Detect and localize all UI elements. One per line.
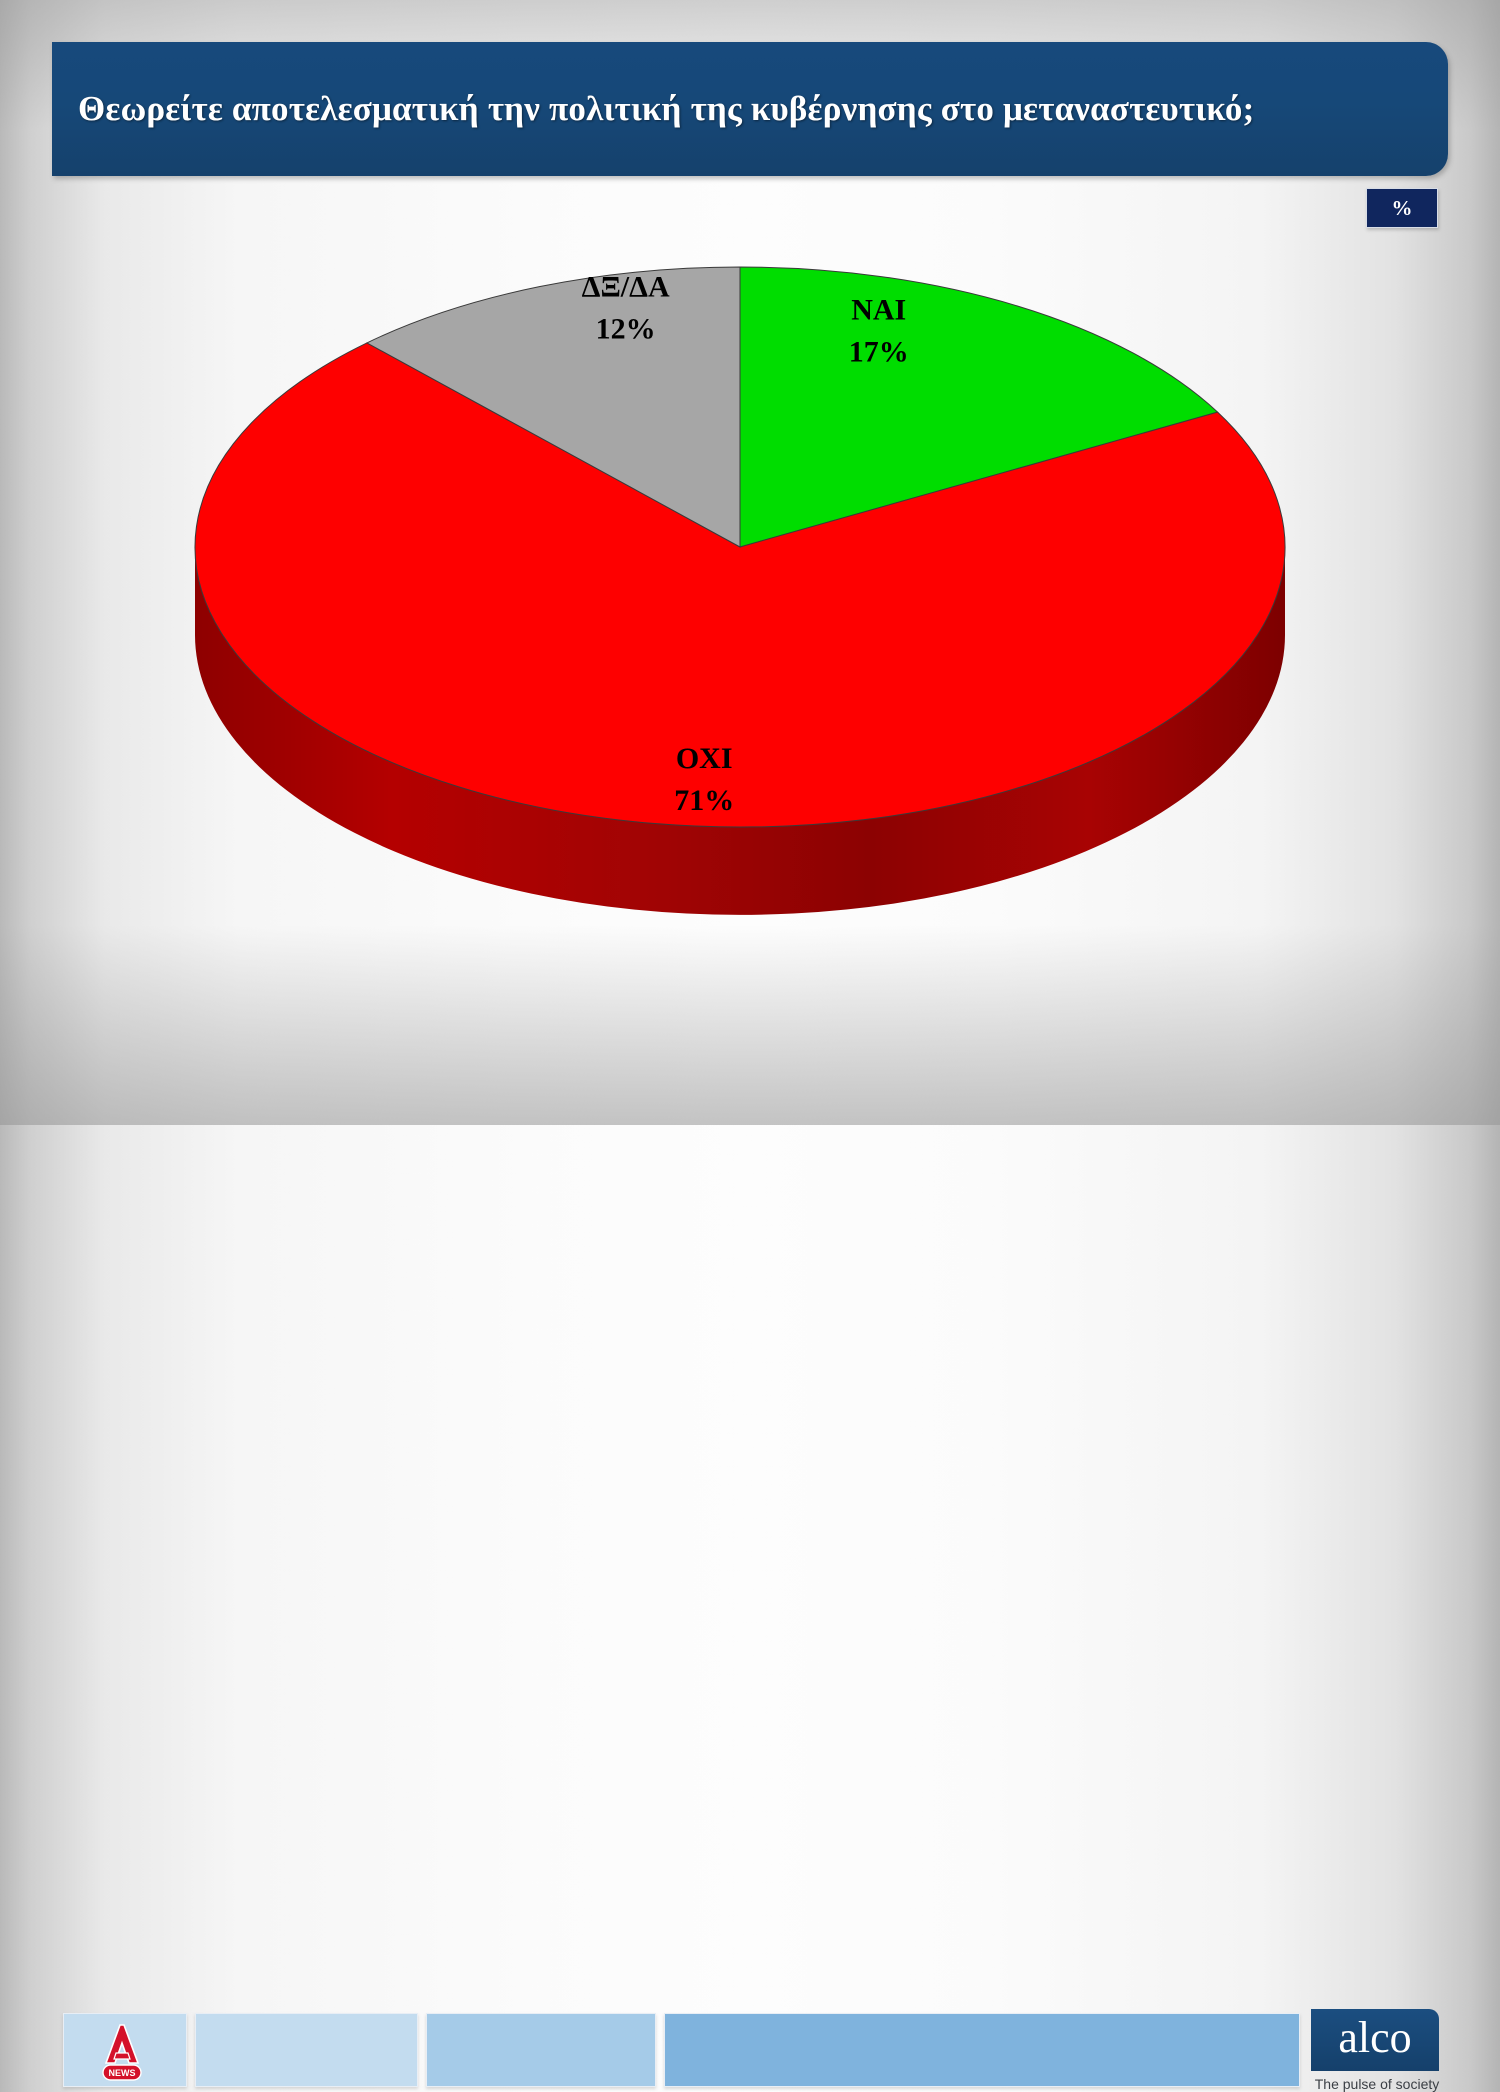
svg-text:NEWS: NEWS <box>109 2068 136 2078</box>
slice-label-nai-name: ΝΑΙ <box>851 293 906 326</box>
pie-chart: ΔΞ/ΔΑ 12% ΝΑΙ 17% ΟΧΙ 71% <box>170 240 1330 960</box>
alco-logo-word: alco <box>1338 2016 1411 2060</box>
footer-bar-3 <box>426 2013 656 2087</box>
pie-chart-svg: ΔΞ/ΔΑ 12% ΝΑΙ 17% ΟΧΙ 71% <box>170 240 1330 960</box>
alpha-news-logo-icon: NEWS <box>90 2019 154 2083</box>
slice-label-dxda-name: ΔΞ/ΔΑ <box>582 271 670 304</box>
slice-label-nai-value: 17% <box>849 335 909 368</box>
alco-logo: alco <box>1311 2009 1439 2071</box>
alco-logo-tagline: The pulse of society <box>1311 2076 1443 2092</box>
slice-label-dxda-value: 12% <box>596 313 656 346</box>
slice-label-oxi-value: 71% <box>674 784 734 817</box>
page-title: Θεωρείτε αποτελεσματική την πολιτική της… <box>52 89 1274 129</box>
slice-label-oxi-name: ΟΧΙ <box>676 742 733 775</box>
footer-bar-2 <box>195 2013 418 2087</box>
footer-bar-4 <box>664 2013 1300 2087</box>
title-banner: Θεωρείτε αποτελεσματική την πολιτική της… <box>52 42 1448 176</box>
unit-badge: % <box>1366 188 1438 228</box>
unit-badge-label: % <box>1392 196 1413 221</box>
slide-canvas: Θεωρείτε αποτελεσματική την πολιτική της… <box>0 0 1500 1125</box>
footer: NEWS alco The pulse of society <box>0 1000 1500 1125</box>
